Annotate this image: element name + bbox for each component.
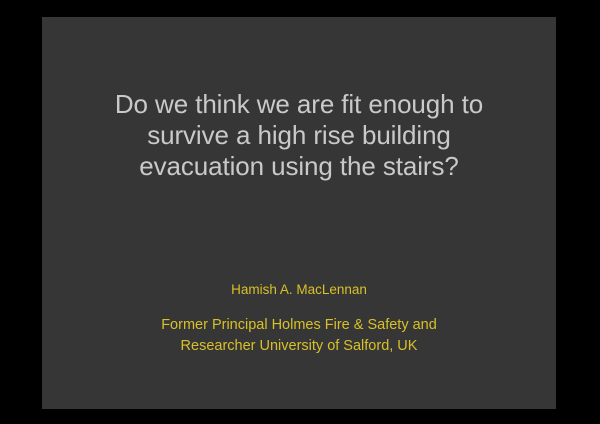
slide-content: Do we think we are fit enough to survive… bbox=[42, 17, 556, 409]
title-line-3: evacuation using the stairs? bbox=[58, 151, 540, 182]
author-name: Hamish A. MacLennan bbox=[58, 280, 540, 300]
affiliation-line-1: Former Principal Holmes Fire & Safety an… bbox=[58, 315, 540, 336]
affiliation-line-2: Researcher University of Salford, UK bbox=[58, 336, 540, 357]
author-name-block: Hamish A. MacLennan bbox=[58, 280, 540, 300]
slide-viewer: Do we think we are fit enough to survive… bbox=[0, 0, 600, 424]
affiliation-block: Former Principal Holmes Fire & Safety an… bbox=[58, 315, 540, 357]
presentation-slide: Do we think we are fit enough to survive… bbox=[42, 17, 556, 409]
slide-title: Do we think we are fit enough to survive… bbox=[58, 89, 540, 182]
title-line-2: survive a high rise building bbox=[58, 120, 540, 151]
title-line-1: Do we think we are fit enough to bbox=[58, 89, 540, 120]
